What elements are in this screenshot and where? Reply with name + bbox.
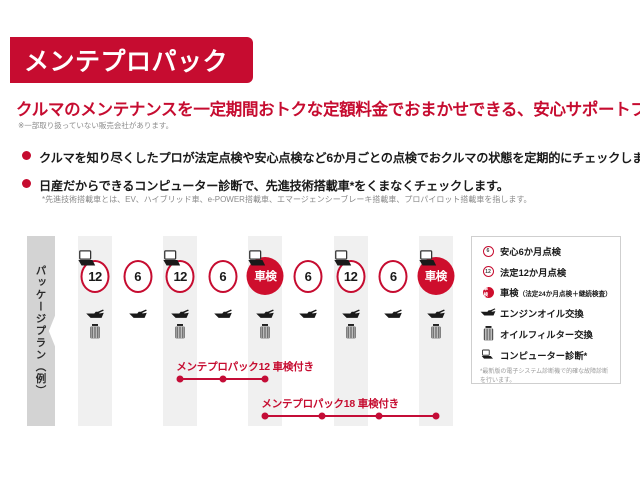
- inspection-node: 12: [333, 254, 369, 296]
- plan-point-marker: [375, 413, 382, 420]
- bullet-item-2: 日産だからできるコンピューター診断で、先進技術搭載車*をくまなくチェックします。: [22, 176, 509, 194]
- engine-oil-icon: [341, 308, 360, 320]
- legend-label: オイルフィルター交換: [500, 327, 593, 341]
- plan-point-marker: [262, 376, 269, 383]
- bullet-text-2: 日産だからできるコンピューター診断で、先進技術搭載車*をくまなくチェックします。: [39, 176, 509, 194]
- timeline-column: 6: [206, 236, 240, 426]
- legend-item: コンピューター診断*: [480, 348, 614, 362]
- legend-item: エンジンオイル交換: [480, 306, 614, 320]
- bullet-dot-icon: [22, 179, 31, 188]
- engine-oil-icon: [426, 308, 445, 320]
- engine-oil-icon: [128, 308, 147, 320]
- legend-items: 6安心6か月点検12法定12か月点検車検車検（法定24か月点検＋継続検査）エンジ…: [480, 244, 614, 362]
- inspection-node: 車検: [418, 254, 454, 296]
- computer-laptop-icon: [480, 349, 496, 360]
- engine-oil-icon: [299, 308, 318, 320]
- month-badge: 6: [379, 260, 408, 293]
- inspection-node: 6: [205, 254, 241, 296]
- subtitle-note: ※一部取り扱っていない販売会社があります。: [18, 120, 173, 131]
- plan-label: メンテプロパック18 車検付き: [261, 396, 399, 411]
- computer-laptop-icon: [76, 250, 98, 270]
- oil-filter-icon: [90, 324, 101, 339]
- legend-panel: 6安心6か月点検12法定12か月点検車検車検（法定24か月点検＋継続検査）エンジ…: [471, 236, 621, 384]
- inspection-node: 車検: [247, 254, 283, 296]
- mini-badge: 12: [483, 266, 494, 277]
- computer-laptop-icon: [161, 250, 183, 270]
- timeline-column: 12: [163, 236, 197, 426]
- circle-6-icon: 6: [480, 246, 496, 257]
- legend-label: コンピューター診断*: [500, 348, 587, 362]
- circle-12-icon: 12: [480, 266, 496, 277]
- legend-note: *最新版の電子システム診断機で的確な故障診断を行います。: [480, 368, 612, 385]
- engine-oil-icon: [480, 307, 496, 319]
- legend-label: 安心6か月点検: [500, 244, 561, 258]
- plan-band-label: パッケージプラン（例）: [27, 236, 55, 426]
- mini-badge: 車検: [483, 287, 494, 298]
- timeline-column: 12: [78, 236, 112, 426]
- timeline-column: 車検: [419, 236, 453, 426]
- engine-oil-icon: [86, 308, 105, 320]
- legend-item: 6安心6か月点検: [480, 244, 614, 258]
- infographic-page: メンテプロパック クルマのメンテナンスを一定期間おトクな定額料金でおまかせできる…: [0, 0, 640, 480]
- oil-filter-icon: [175, 324, 186, 339]
- inspection-node: 6: [375, 254, 411, 296]
- inspection-node: 12: [77, 254, 113, 296]
- oil-filter-icon: [430, 324, 441, 339]
- engine-oil-icon: [384, 308, 403, 320]
- computer-laptop-icon: [417, 250, 439, 270]
- engine-oil-icon: [171, 308, 190, 320]
- plan-range-bar: [180, 378, 265, 380]
- legend-label: 法定12か月点検: [500, 265, 566, 279]
- legend-label: 車検（法定24か月点検＋継続検査）: [500, 285, 612, 299]
- plan-point-marker: [319, 413, 326, 420]
- plan-point-marker: [219, 376, 226, 383]
- legend-item: 車検車検（法定24か月点検＋継続検査）: [480, 285, 614, 299]
- legend-label: エンジンオイル交換: [500, 306, 584, 320]
- plan-point-marker: [432, 413, 439, 420]
- header-banner: メンテプロパック: [10, 37, 253, 83]
- bullet-text-1: クルマを知り尽くしたプロが法定点検や安心点検など6か月ごとの点検でおクルマの状態…: [39, 148, 640, 166]
- bullet-item-1: クルマを知り尽くしたプロが法定点検や安心点検など6か月ごとの点検でおクルマの状態…: [22, 148, 640, 166]
- oil-filter-icon: [480, 326, 496, 341]
- month-badge: 6: [208, 260, 237, 293]
- oil-filter-icon: [260, 324, 271, 339]
- month-badge: 6: [294, 260, 323, 293]
- timeline-column: 6: [121, 236, 155, 426]
- plan-range-bar: [265, 415, 435, 417]
- inspection-node: 12: [162, 254, 198, 296]
- engine-oil-icon: [256, 308, 275, 320]
- shaken-badge-icon: 車検: [480, 287, 496, 298]
- plan-label: メンテプロパック12 車検付き: [176, 359, 314, 374]
- bullet-dot-icon: [22, 151, 31, 160]
- plan-point-marker: [177, 376, 184, 383]
- plan-point-marker: [262, 413, 269, 420]
- mini-badge: 6: [483, 246, 494, 257]
- legend-item: 12法定12か月点検: [480, 265, 614, 279]
- subtitle-text: クルマのメンテナンスを一定期間おトクな定額料金でおまかせできる、安心サポートプラ…: [16, 96, 640, 120]
- inspection-node: 6: [120, 254, 156, 296]
- legend-item: オイルフィルター交換: [480, 326, 614, 341]
- month-badge: 6: [123, 260, 152, 293]
- computer-laptop-icon: [246, 250, 268, 270]
- computer-laptop-icon: [332, 250, 354, 270]
- bullet-note-2: *先進技術搭載車とは、EV、ハイブリッド車、e-POWER搭載車、エマージェンシ…: [42, 194, 532, 205]
- package-plan-diagram: パッケージプラン（例） 126126車検6126車検 メンテプロパック12 車検…: [0, 228, 640, 433]
- oil-filter-icon: [345, 324, 356, 339]
- legend-sublabel: （法定24か月点検＋継続検査）: [519, 291, 612, 298]
- page-title: メンテプロパック: [10, 42, 228, 78]
- engine-oil-icon: [213, 308, 232, 320]
- inspection-node: 6: [290, 254, 326, 296]
